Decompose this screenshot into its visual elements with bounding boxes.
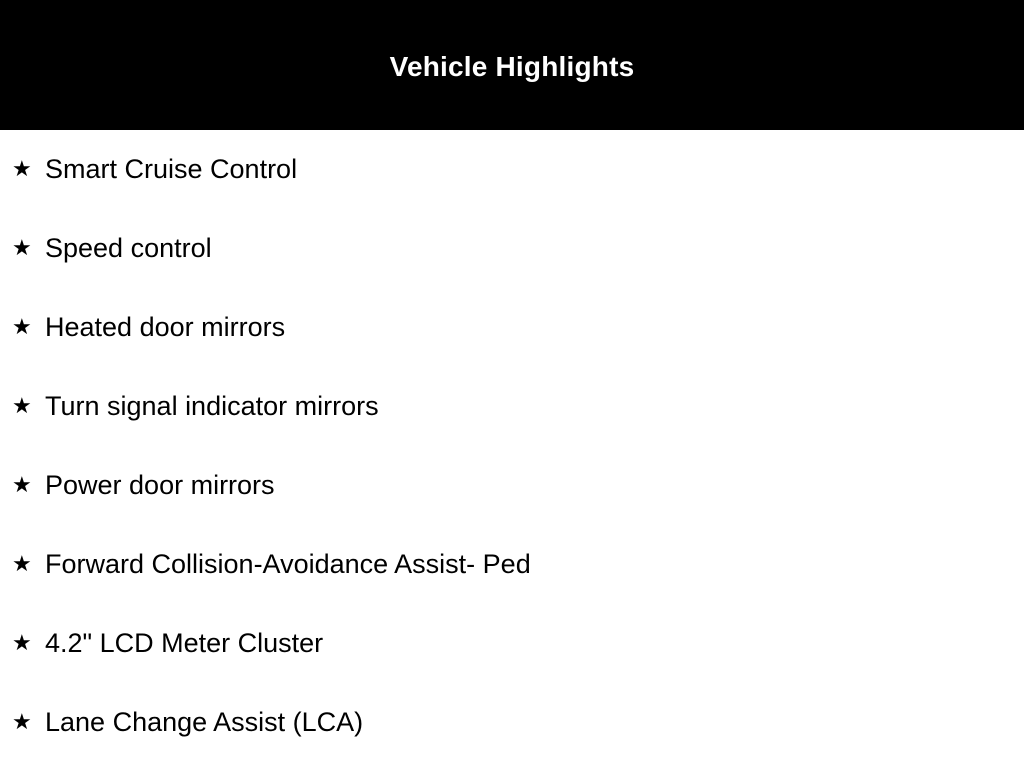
list-item: ★ Forward Collision-Avoidance Assist- Pe… [0,525,1024,604]
list-item: ★ Lane Change Assist (LCA) [0,683,1024,762]
star-bullet-icon: ★ [12,159,45,181]
highlight-label: Heated door mirrors [45,314,285,341]
vehicle-highlights-header: Vehicle Highlights [0,0,1024,130]
highlight-label: Lane Change Assist (LCA) [45,709,363,736]
vehicle-highlights-list: ★ Smart Cruise Control ★ Speed control ★… [0,130,1024,762]
highlight-label: Turn signal indicator mirrors [45,393,379,420]
list-item: ★ Turn signal indicator mirrors [0,367,1024,446]
star-bullet-icon: ★ [12,712,45,734]
highlight-label: Smart Cruise Control [45,156,297,183]
highlight-label: 4.2" LCD Meter Cluster [45,630,323,657]
highlight-label: Speed control [45,235,212,262]
list-item: ★ Smart Cruise Control [0,130,1024,209]
list-item: ★ Heated door mirrors [0,288,1024,367]
star-bullet-icon: ★ [12,475,45,497]
star-bullet-icon: ★ [12,633,45,655]
star-bullet-icon: ★ [12,238,45,260]
list-item: ★ Power door mirrors [0,446,1024,525]
star-bullet-icon: ★ [12,317,45,339]
list-item: ★ Speed control [0,209,1024,288]
star-bullet-icon: ★ [12,396,45,418]
list-item: ★ 4.2" LCD Meter Cluster [0,604,1024,683]
highlight-label: Forward Collision-Avoidance Assist- Ped [45,551,531,578]
page-title: Vehicle Highlights [390,53,635,81]
highlight-label: Power door mirrors [45,472,275,499]
star-bullet-icon: ★ [12,554,45,576]
